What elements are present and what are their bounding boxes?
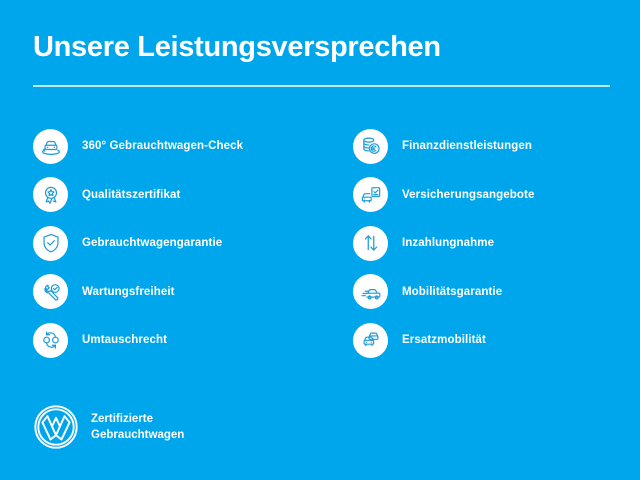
car-360-check-icon [33, 129, 68, 164]
list-item: Gebrauchtwagengarantie [33, 219, 325, 268]
list-item: Inzahlungnahme [353, 219, 640, 268]
car-clipboard-icon [353, 177, 388, 212]
promises-columns: 360° Gebrauchtwagen-Check Qualitätszerti… [0, 122, 640, 365]
wrench-check-icon [33, 274, 68, 309]
list-item: Wartungsfreiheit [33, 268, 325, 317]
list-item-label: Wartungsfreiheit [82, 286, 175, 298]
exchange-arrows-icon [33, 323, 68, 358]
brand-text: Zertifizierte Gebrauchtwagen [91, 411, 184, 444]
list-item: Qualitätszertifikat [33, 171, 325, 220]
award-rosette-icon [33, 177, 68, 212]
list-item: Ersatzmobilität [353, 316, 640, 365]
page-title: Unsere Leistungsversprechen [33, 32, 441, 64]
title-divider [33, 85, 610, 87]
list-item: Umtauschrecht [33, 316, 325, 365]
promises-slide: Unsere Leistungsversprechen 360° Gebrauc… [0, 0, 640, 480]
arrows-up-down-icon [353, 226, 388, 261]
promises-right-column: Finanzdienstleistungen Versicherungsange… [325, 122, 640, 365]
list-item-label: Qualitätszertifikat [82, 189, 180, 201]
list-item-label: Inzahlungnahme [402, 237, 494, 249]
brand-text-line2: Gebrauchtwagen [91, 427, 184, 443]
list-item-label: Ersatzmobilität [402, 334, 486, 346]
list-item: Versicherungsangebote [353, 171, 640, 220]
list-item-label: Finanzdienstleistungen [402, 140, 532, 152]
list-item-label: Versicherungsangebote [402, 189, 534, 201]
brand-lockup: Zertifizierte Gebrauchtwagen [33, 404, 184, 450]
volkswagen-logo [33, 404, 79, 450]
brand-text-line1: Zertifizierte [91, 411, 184, 427]
two-cars-icon [353, 323, 388, 358]
promises-left-column: 360° Gebrauchtwagen-Check Qualitätszerti… [0, 122, 325, 365]
car-speed-icon [353, 274, 388, 309]
list-item-label: Gebrauchtwagengarantie [82, 237, 222, 249]
coins-euro-icon [353, 129, 388, 164]
shield-check-icon [33, 226, 68, 261]
list-item-label: Mobilitätsgarantie [402, 286, 502, 298]
list-item: Mobilitätsgarantie [353, 268, 640, 317]
list-item-label: 360° Gebrauchtwagen-Check [82, 140, 243, 152]
list-item: Finanzdienstleistungen [353, 122, 640, 171]
list-item: 360° Gebrauchtwagen-Check [33, 122, 325, 171]
list-item-label: Umtauschrecht [82, 334, 167, 346]
